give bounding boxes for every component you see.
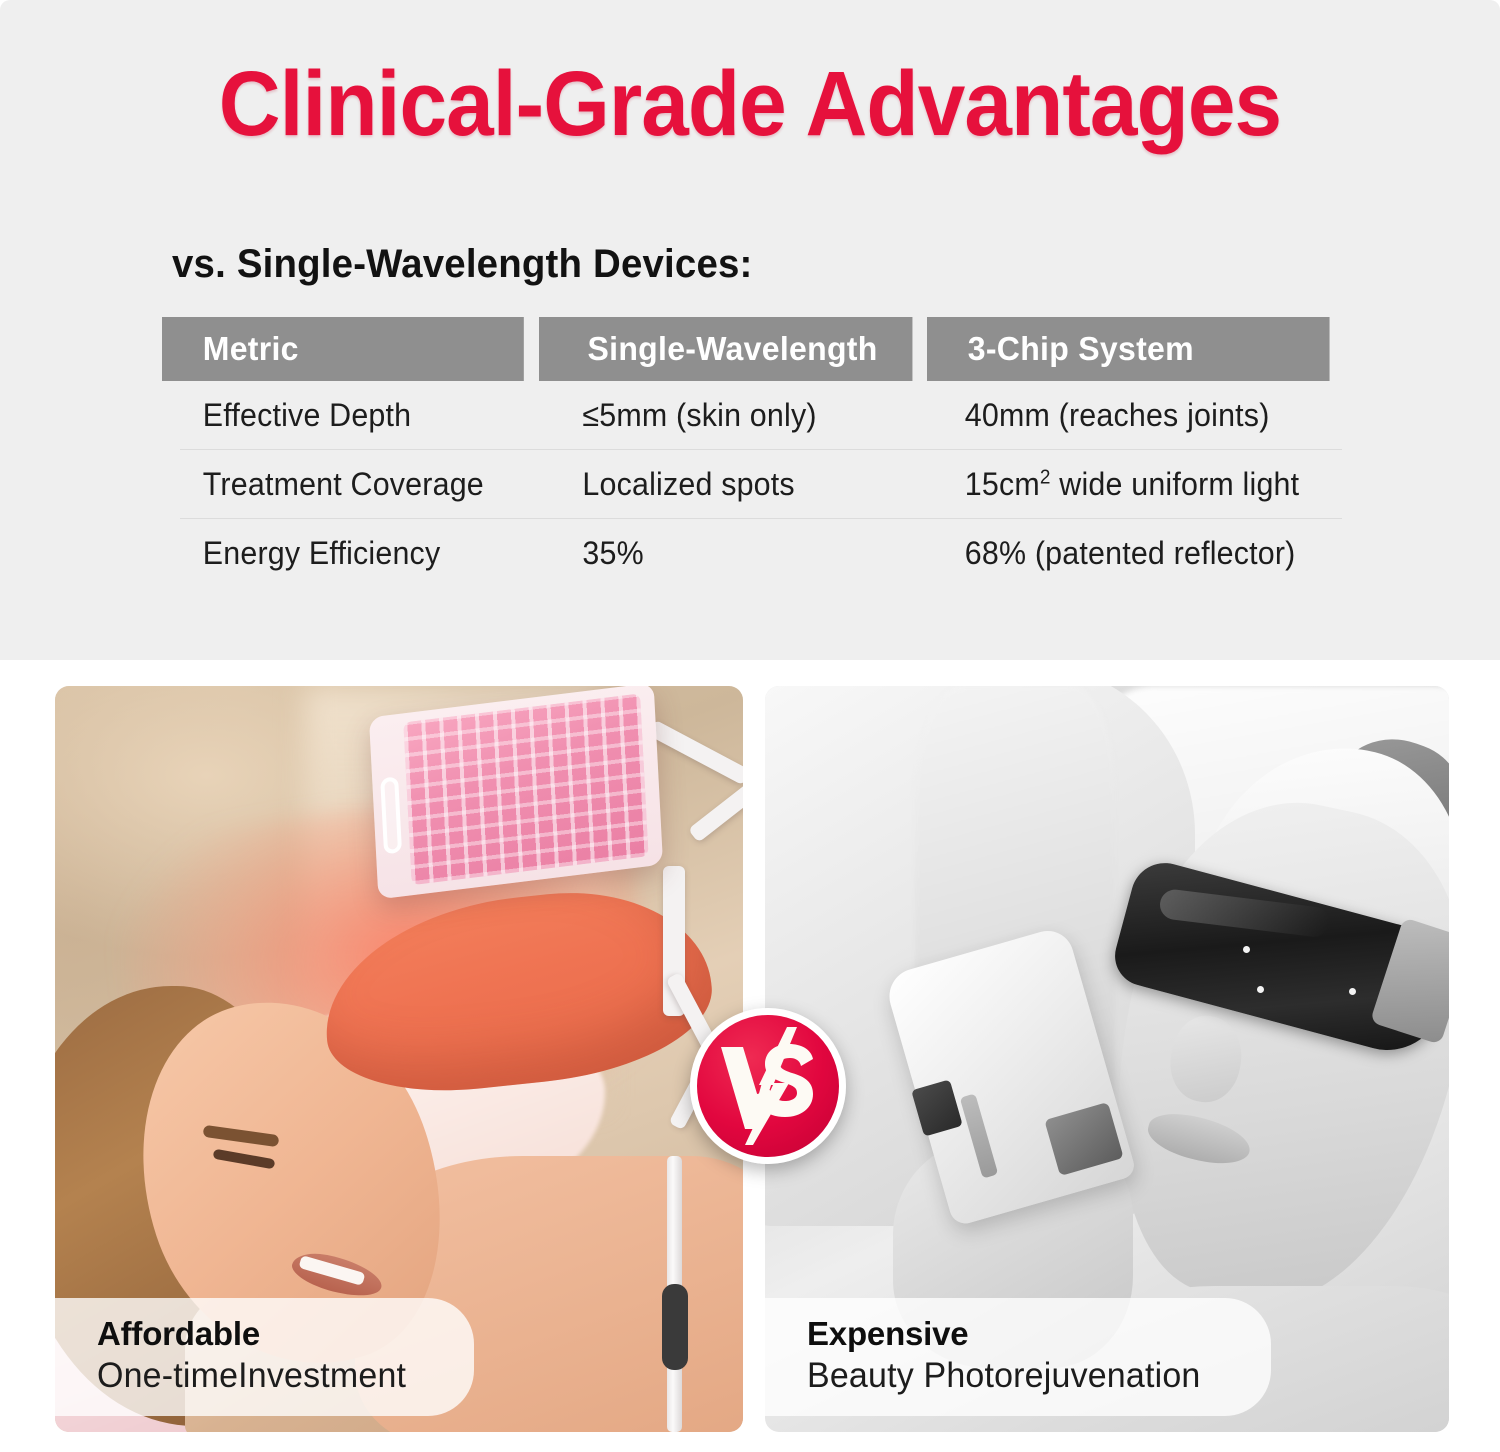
vs-lightning-icon: [701, 1019, 835, 1153]
cell-single-wavelength: ≤5mm (skin only): [552, 397, 923, 434]
cell-single-wavelength: Localized spots: [552, 466, 923, 503]
cell-value-suffix: wide uniform light: [1051, 466, 1300, 502]
cell-three-chip: 15cm2 wide uniform light: [942, 466, 1322, 503]
section-subtitle: vs. Single-Wavelength Devices:: [172, 238, 753, 290]
caption-expensive: Expensive Beauty Photorejuvenation: [765, 1298, 1271, 1416]
cell-value-prefix: 15cm: [965, 466, 1040, 502]
page-title: Clinical-Grade Advantages: [53, 52, 1448, 156]
table-header-single-wavelength: Single-Wavelength: [539, 317, 912, 381]
cell-metric: Effective Depth: [180, 397, 533, 434]
goggles-reflection-dot: [1257, 986, 1264, 993]
cell-value-superscript: 2: [1040, 466, 1051, 488]
comparison-table: Metric Single-Wavelength 3-Chip System E…: [162, 317, 1342, 588]
goggles-reflection-dot: [1349, 988, 1356, 995]
caption-affordable: Affordable One-timeInvestment: [55, 1298, 474, 1416]
table-row: Treatment Coverage Localized spots 15cm2…: [180, 450, 1342, 519]
table-header-three-chip: 3-Chip System: [927, 317, 1329, 381]
table-row: Energy Efficiency 35% 68% (patented refl…: [180, 519, 1342, 588]
table-row: Effective Depth ≤5mm (skin only) 40mm (r…: [180, 381, 1342, 450]
cell-three-chip: 40mm (reaches joints): [942, 397, 1322, 434]
caption-title: Expensive: [807, 1314, 1213, 1354]
caption-subtitle: Beauty Photorejuvenation: [807, 1354, 1200, 1398]
led-diode-array: [403, 693, 648, 885]
photo-expensive-clinic-treatment: Expensive Beauty Photorejuvenation: [765, 686, 1449, 1432]
product-advantages-infographic: Clinical-Grade Advantages vs. Single-Wav…: [0, 0, 1500, 1452]
caption-subtitle: One-timeInvestment: [97, 1354, 406, 1398]
stand-grip: [662, 1284, 688, 1370]
cell-three-chip: 68% (patented reflector): [942, 535, 1322, 572]
cell-single-wavelength: 35%: [552, 535, 923, 572]
cell-metric: Treatment Coverage: [180, 466, 533, 503]
cell-metric: Energy Efficiency: [180, 535, 533, 572]
photo-affordable-red-light-therapy: Affordable One-timeInvestment: [55, 686, 743, 1432]
caption-title: Affordable: [97, 1314, 416, 1354]
led-light-panel: [369, 686, 663, 899]
advantages-panel: Clinical-Grade Advantages vs. Single-Wav…: [0, 0, 1500, 660]
goggles-reflection-dot: [1243, 946, 1250, 953]
table-header-metric: Metric: [162, 317, 524, 381]
vs-badge: VS: [690, 1008, 846, 1164]
table-header-row: Metric Single-Wavelength 3-Chip System: [162, 317, 1342, 381]
panel-handle: [380, 776, 402, 854]
